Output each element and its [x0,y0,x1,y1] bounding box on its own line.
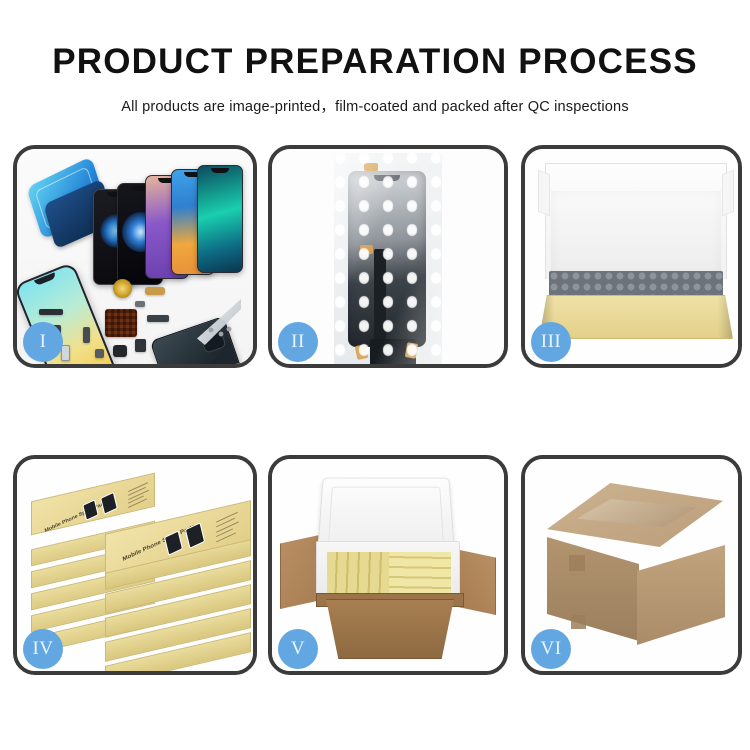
step-badge-3: III [531,322,571,362]
step-badge-1: I [23,322,63,362]
box-screen-image [100,492,118,515]
spare-part [147,315,169,322]
spare-part [95,349,104,358]
yellow-boxes-stack [389,552,451,596]
phone-back-housing [150,316,243,364]
box-stack-front: Mobile Phone Spare Parts [105,517,251,671]
step-badge-4: IV [23,629,63,669]
carton-left-face [547,537,639,641]
chip-grid-part [105,309,137,337]
step-badge-5: V [278,629,318,669]
header: PRODUCT PREPARATION PROCESS All products… [0,0,750,116]
foam-sheet [551,191,721,277]
spare-part [135,301,145,307]
screws-group [207,326,233,338]
carton-body [322,599,458,659]
process-step-5[interactable]: V [268,455,508,675]
process-step-3[interactable]: III [521,145,742,368]
process-step-4[interactable]: Mobile Phone Spare Parts [13,455,257,675]
process-step-1[interactable]: I [13,145,257,368]
phone-screen-5 [197,165,243,273]
phone-fan-group [89,165,249,285]
process-row-top: I [0,145,750,368]
process-step-6[interactable]: VI [521,455,742,675]
box-screen-image [82,499,98,521]
carton-tab [571,615,586,629]
speaker-coil-part [113,279,132,298]
process-row-bottom: Mobile Phone Spare Parts [0,455,750,675]
spare-part [83,327,90,343]
bubble-wrap-bag [334,153,442,364]
spare-part [113,345,127,357]
product-preparation-infographic: PRODUCT PREPARATION PROCESS All products… [0,0,750,750]
process-grid: I [0,145,750,675]
page-title: PRODUCT PREPARATION PROCESS [0,44,750,79]
spare-part [39,309,63,315]
spare-part [61,345,70,361]
step-badge-2: II [278,322,318,362]
step-badge-6: VI [531,629,571,669]
spare-part [145,287,165,295]
carton-right-face [637,545,725,645]
plastic-glare [334,153,442,364]
spare-part [135,339,146,352]
page-subtitle: All products are image-printed，film-coat… [0,95,750,116]
carton-tab [569,555,585,571]
process-step-2[interactable]: II [268,145,508,368]
packed-boxes-group [327,552,451,596]
